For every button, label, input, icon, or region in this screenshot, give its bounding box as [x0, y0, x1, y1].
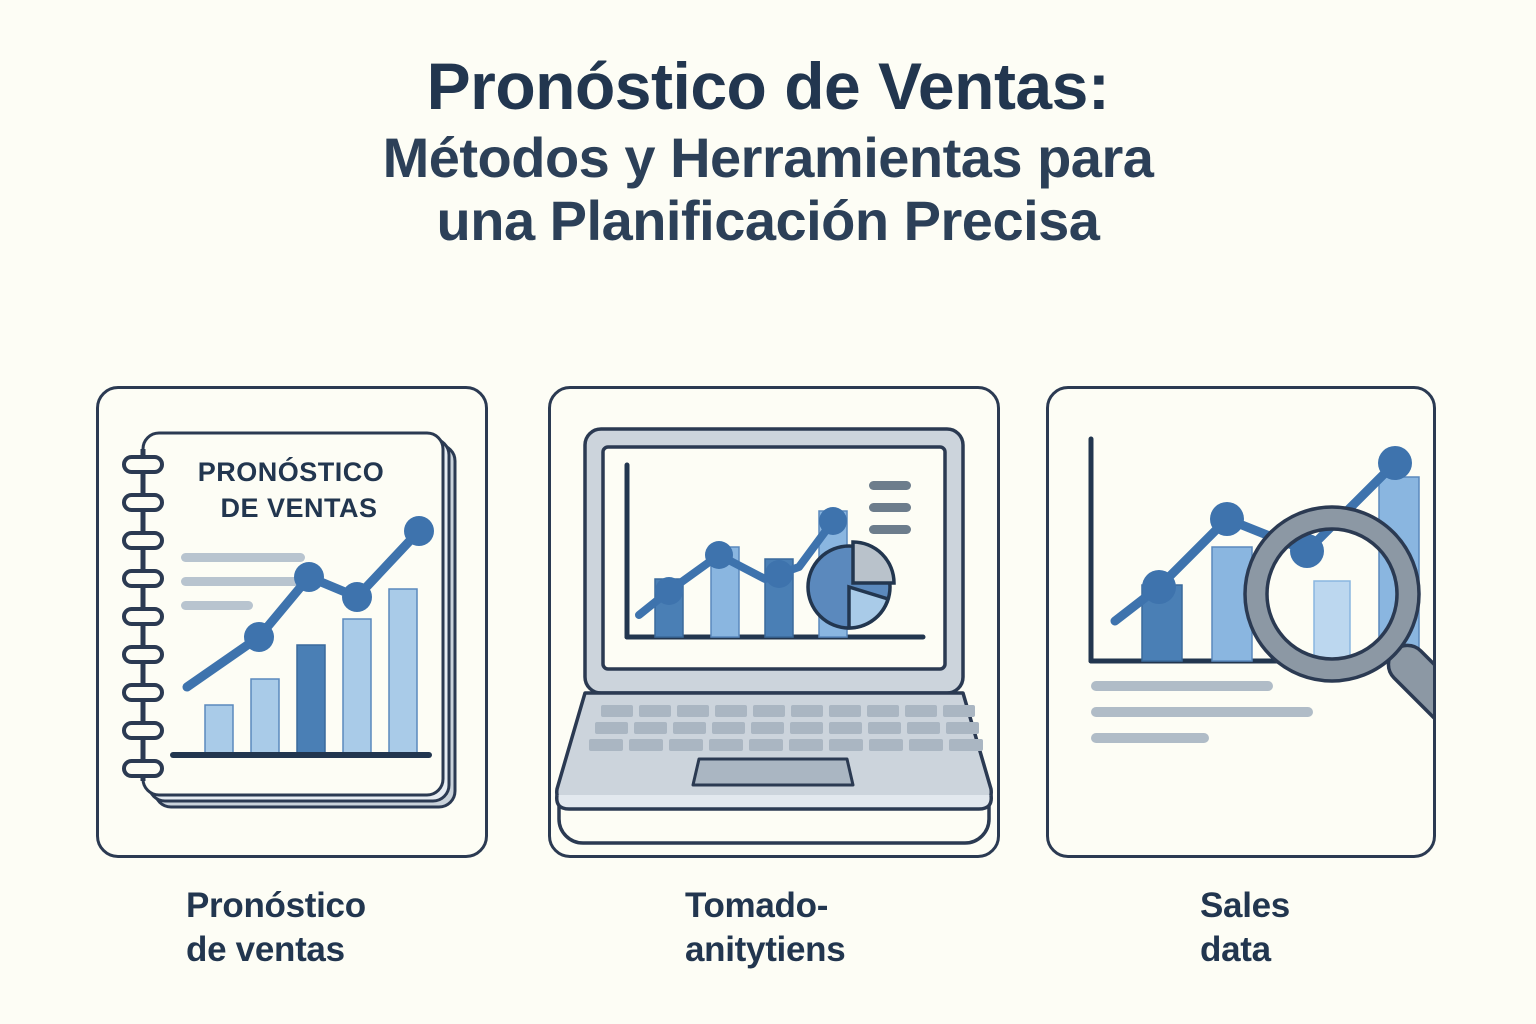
laptop-trackpad[interactable]	[693, 759, 853, 785]
heading-block: Pronóstico de Ventas: Métodos y Herramie…	[0, 52, 1536, 253]
caption-notebook: Pronóstico de ventas	[186, 884, 366, 972]
notebook-illustration: PRONÓSTICO DE VENTAS	[99, 389, 485, 855]
caption-laptop-line-1: Tomado-	[685, 884, 845, 928]
trend-marker-2	[294, 562, 324, 592]
laptop-front-lip	[557, 795, 992, 809]
panel-sales-data[interactable]	[1046, 386, 1436, 858]
bar-5	[389, 589, 417, 753]
sales-text-lines	[1091, 681, 1313, 743]
legend-bar-1	[869, 481, 911, 490]
trend-marker-3	[342, 582, 372, 612]
notebook-title-line-1: PRONÓSTICO	[198, 456, 385, 487]
sales-trend-marker-4	[1378, 446, 1412, 480]
screen-trend-marker-1	[655, 577, 683, 605]
trend-marker-4	[404, 516, 434, 546]
screen-trend-marker-3	[765, 560, 793, 588]
bar-2	[251, 679, 279, 753]
screen-trend-marker-2	[705, 541, 733, 569]
panel-notebook-content: PRONÓSTICO DE VENTAS	[99, 389, 485, 855]
bar-4	[343, 619, 371, 753]
screen-trend-marker-4	[819, 507, 847, 535]
sales-trend-marker-1	[1142, 570, 1176, 604]
screen-legend-bars	[869, 481, 911, 534]
sales-trend-marker-2	[1210, 502, 1244, 536]
caption-sales-data-line-1: Sales	[1200, 884, 1290, 928]
caption-sales-data: Sales data	[1200, 884, 1290, 972]
notebook-spiral-rings	[124, 457, 162, 776]
panel-laptop[interactable]	[548, 386, 1000, 858]
bar-1	[205, 705, 233, 753]
caption-sales-data-line-2: data	[1200, 928, 1290, 972]
page-subtitle-line-1: Métodos y Herramientas para	[0, 127, 1536, 190]
panel-laptop-content	[551, 389, 997, 855]
page-subtitle-line-2: una Planificación Precisa	[0, 190, 1536, 253]
bar-3	[297, 645, 325, 753]
sales-bar-3-magnified	[1314, 581, 1350, 661]
legend-bar-2	[869, 503, 911, 512]
panel-notebook[interactable]: PRONÓSTICO DE VENTAS	[96, 386, 488, 858]
panel-sales-data-content	[1049, 389, 1433, 855]
caption-notebook-line-2: de ventas	[186, 928, 366, 972]
caption-laptop: Tomado- anitytiens	[685, 884, 845, 972]
trend-marker-1	[244, 622, 274, 652]
infographic-canvas: Pronóstico de Ventas: Métodos y Herramie…	[0, 0, 1536, 1024]
caption-laptop-line-2: anitytiens	[685, 928, 845, 972]
laptop-illustration	[551, 389, 997, 855]
legend-bar-3	[869, 525, 911, 534]
screen-pie-chart	[808, 542, 894, 628]
sales-data-illustration	[1049, 389, 1433, 855]
notebook-title-line-2: DE VENTAS	[220, 493, 377, 523]
page-title: Pronóstico de Ventas:	[0, 52, 1536, 121]
caption-notebook-line-1: Pronóstico	[186, 884, 366, 928]
